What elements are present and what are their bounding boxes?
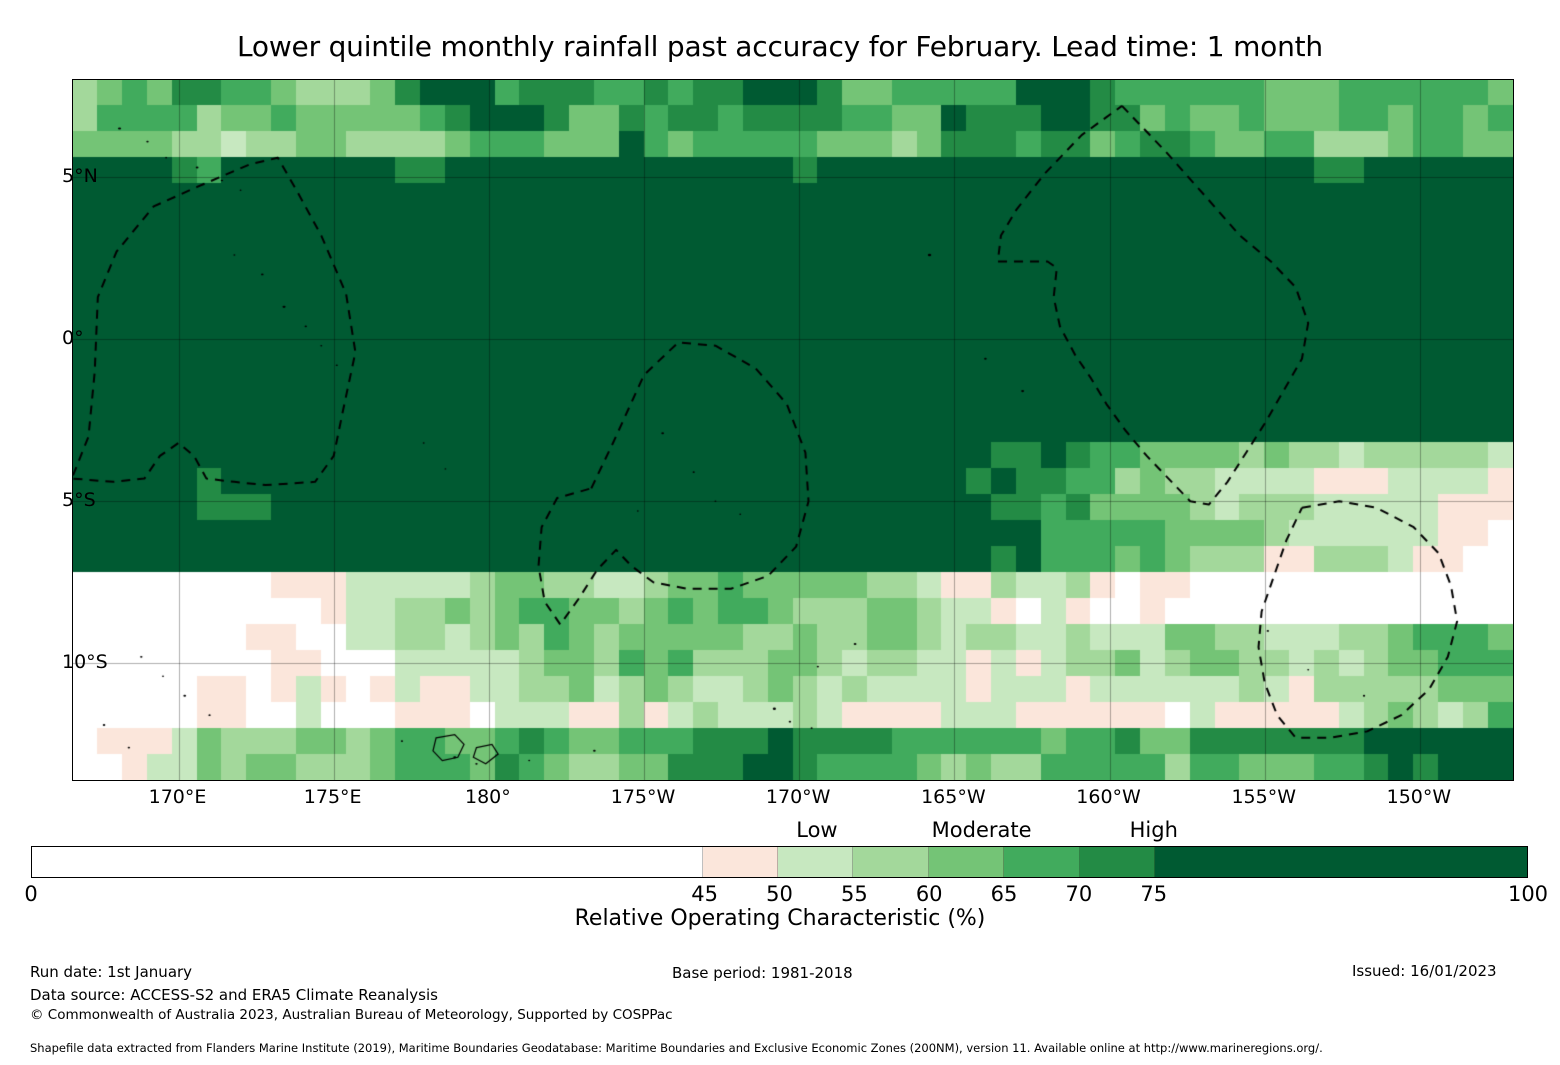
colorbar-segment-3 — [853, 847, 928, 877]
x-tick-label-6: 160°W — [1076, 786, 1141, 808]
x-tick-label-8: 150°W — [1387, 786, 1452, 808]
x-tick-label-1: 175°E — [304, 786, 362, 808]
colorbar-category-low: Low — [796, 818, 837, 842]
colorbar-tick-70: 70 — [1066, 882, 1093, 906]
x-tick-label-3: 175°W — [611, 786, 676, 808]
footer-run-date: Run date: 1st January — [30, 963, 192, 981]
colorbar-tick-60: 60 — [916, 882, 943, 906]
footer-data-source: Data source: ACCESS-S2 and ERA5 Climate … — [30, 986, 438, 1004]
colorbar-segment-2 — [778, 847, 853, 877]
colorbar-segment-4 — [929, 847, 1004, 877]
colorbar-segment-5 — [1004, 847, 1079, 877]
colorbar-tick-0: 0 — [24, 882, 37, 906]
colorbar-tick-45: 45 — [691, 882, 718, 906]
x-tick-label-4: 170°W — [766, 786, 831, 808]
footer-copyright: © Commonwealth of Australia 2023, Austra… — [30, 1007, 673, 1023]
footer-base-period: Base period: 1981-2018 — [672, 964, 853, 982]
colorbar-tick-100: 100 — [1508, 882, 1548, 906]
x-tick-label-2: 180° — [465, 786, 511, 808]
colorbar[interactable] — [31, 846, 1528, 878]
figure-root: Lower quintile monthly rainfall past acc… — [0, 0, 1560, 1065]
eez-and-coastline-overlay — [73, 80, 1513, 780]
x-tick-label-7: 155°W — [1231, 786, 1296, 808]
colorbar-axis-label: Relative Operating Characteristic (%) — [0, 906, 1560, 931]
page-title: Lower quintile monthly rainfall past acc… — [0, 30, 1560, 63]
colorbar-segment-6 — [1080, 847, 1155, 877]
colorbar-segment-1 — [703, 847, 778, 877]
x-tick-label-0: 170°E — [149, 786, 207, 808]
colorbar-tick-50: 50 — [766, 882, 793, 906]
x-tick-label-5: 165°W — [921, 786, 986, 808]
footer-issued-date: Issued: 16/01/2023 — [1352, 962, 1497, 980]
colorbar-tick-65: 65 — [991, 882, 1018, 906]
colorbar-tick-75: 75 — [1140, 882, 1167, 906]
colorbar-segment-7 — [1155, 847, 1527, 877]
colorbar-category-moderate: Moderate — [932, 818, 1032, 842]
footer-shapefile-note: Shapefile data extracted from Flanders M… — [30, 1041, 1323, 1055]
colorbar-tick-55: 55 — [841, 882, 868, 906]
colorbar-category-high: High — [1130, 818, 1178, 842]
colorbar-segment-0 — [32, 847, 703, 877]
map-axes[interactable] — [72, 79, 1514, 781]
